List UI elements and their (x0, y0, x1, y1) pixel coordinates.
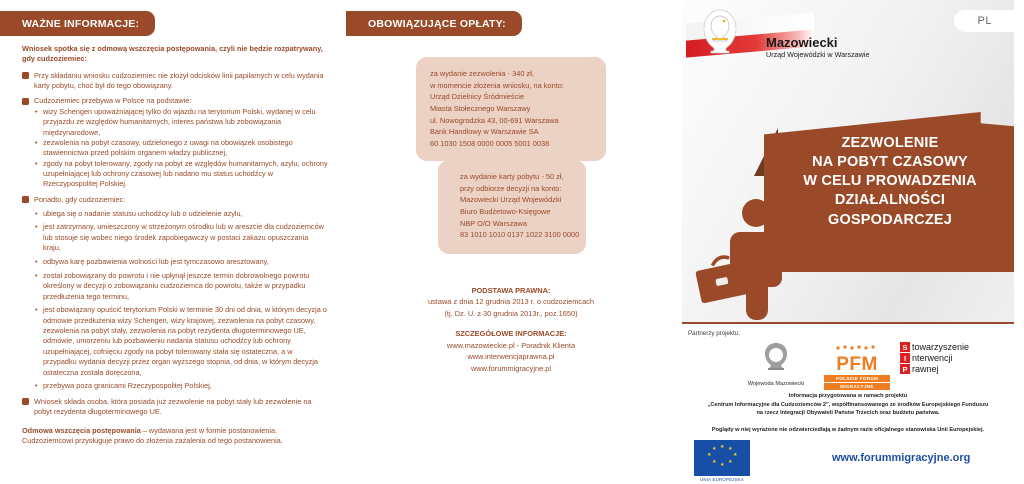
fee-line: za wydanie karty pobytu - 50 zł, (460, 171, 586, 183)
left-sub-item: przebywa poza granicami Rzeczypospolitej… (34, 381, 328, 391)
fee-box-residence-card: za wydanie karty pobytu - 50 zł, przy od… (438, 160, 586, 254)
brochure-page: WAŻNE INFORMACJE: Wniosek spotka się z o… (0, 0, 1024, 484)
sip-word: rawnej (912, 364, 939, 374)
fee-line: NBP O/O Warszawa (460, 218, 586, 230)
pfm-subtitle-line: POLSKIE FORUM (824, 375, 890, 382)
middle-column: OBOWIĄZUJĄCE OPŁATY: za wydanie zezwolen… (340, 0, 682, 484)
eu-flag-logo: ★ ★ ★ ★ ★ ★ ★ ★ UNIA EUROPEJSKA (694, 440, 750, 482)
sip-line: P rawnej (900, 364, 969, 374)
fees-section-header-label: OBOWIĄZUJĄCE OPŁATY: (346, 18, 522, 30)
square-bullet-icon (22, 98, 29, 105)
pfm-subtitle-line: MIGRACYJNE (824, 383, 890, 390)
partner-logo-sip: S towarzyszenie I nterwencji P rawnej (900, 342, 969, 375)
square-bullet-icon (22, 72, 29, 79)
left-sub-list: ubiega się o nadanie statusu uchodźcy lu… (34, 209, 328, 392)
fee-line: ul. Nowogrodzka 43, 00-691 Warszawa (430, 115, 606, 127)
left-sub-item: zezwolenia na pobyt czasowy, udzielonego… (34, 138, 328, 159)
left-sub-item: odbywa karę pozbawienia wolności lub jes… (34, 257, 328, 267)
left-sub-item: jest zatrzymany, umieszczony w strzeżony… (34, 222, 328, 253)
sip-word: nterwencji (912, 353, 953, 363)
hero-cover: Mazowiecki Urząd Wojewódzki w Warszawie … (682, 0, 1014, 324)
fee-line: za wydanie zezwolenia - 340 zł, (430, 68, 606, 80)
left-section-header: WAŻNE INFORMACJE: (0, 11, 155, 36)
hero-title-line: ZEZWOLENIE (764, 134, 1014, 153)
left-sub-item: został zobowiązany do powrotu i nie upły… (34, 271, 328, 302)
legal-basis-line: (tj. Dz. U. z 30 grudnia 2013r., poz.165… (340, 308, 682, 319)
org-subtitle: Urząd Wojewódzki w Warszawie (766, 51, 869, 58)
fee-box-permit: za wydanie zezwolenia - 340 zł, w momenc… (416, 57, 606, 161)
fee-line: Biuro Budżetowo-Księgowe (460, 206, 586, 218)
language-badge[interactable]: PL (954, 10, 1014, 32)
legal-basis-line: ustawa z dnia 12 grudnia 2013 r. o cudzo… (340, 296, 682, 307)
sip-word: towarzyszenie (912, 342, 969, 352)
details-info-link[interactable]: www.mazowieckie.pl - Poradnik Klienta (340, 340, 682, 351)
fee-line: w momencie złożenia wniosku, na konto: (430, 80, 606, 92)
org-name-block: Mazowiecki Urząd Wojewódzki w Warszawie (766, 36, 869, 58)
voivodeship-logo: Mazowiecki Urząd Wojewódzki w Warszawie (686, 8, 916, 64)
eu-flag-icon: ★ ★ ★ ★ ★ ★ ★ ★ (694, 440, 750, 476)
sip-initial-box: I (900, 353, 910, 363)
pfm-subtitle-bars: POLSKIE FORUM MIGRACYJNE (824, 375, 890, 390)
org-name: Mazowiecki (766, 36, 869, 49)
left-bullet-item: Ponadto, gdy cudzoziemiec: ubiega się o … (22, 195, 328, 392)
sip-initial-box: S (900, 342, 910, 352)
hero-title-line: W CELU PROWADZENIA (764, 172, 1014, 191)
left-bullet-label: Wniosek składa osoba, która posiada już … (34, 397, 328, 418)
polish-eagle-crest-icon (700, 8, 740, 55)
details-info-link[interactable]: www.interwencjaprawna.pl (340, 351, 682, 362)
left-section-header-label: WAŻNE INFORMACJE: (0, 18, 155, 30)
left-bullet-item: Wniosek składa osoba, która posiada już … (22, 397, 328, 418)
left-lead-paragraph: Wniosek spotka się z odmową wszczęcia po… (22, 44, 328, 65)
details-info-link[interactable]: www.forummigracyjne.pl (340, 363, 682, 374)
project-disclaimer: Informacja przygotowana w ramach projekt… (682, 392, 1014, 435)
left-bullet-label: Cudzoziemiec przebywa w Polsce na podsta… (34, 96, 328, 106)
pfm-wordmark: PFM (824, 356, 890, 374)
square-bullet-icon (22, 398, 29, 405)
left-sub-item: zgody na pobyt tolerowany, zgody na poby… (34, 159, 328, 190)
language-badge-label: PL (978, 15, 992, 27)
partners-label: Partnerzy projektu: (688, 330, 740, 337)
project-website-url[interactable]: www.forummigracyjne.org (832, 452, 970, 464)
left-bullet-label: Przy składaniu wniosku cudzoziemiec nie … (34, 71, 328, 92)
sip-initial-box: P (900, 364, 910, 374)
right-panel: Mazowiecki Urząd Wojewódzki w Warszawie … (682, 0, 1024, 484)
left-sub-list: wizy Schengen upoważniającej tylko do wj… (34, 107, 328, 190)
details-info-title: SZCZEGÓŁOWE INFORMACJE: (340, 328, 682, 339)
eu-flag-caption: UNIA EUROPEJSKA (694, 477, 750, 482)
eagle-emblem-icon (759, 340, 793, 374)
left-sub-item: wizy Schengen upoważniającej tylko do wj… (34, 107, 328, 138)
legal-basis-block: PODSTAWA PRAWNA: ustawa z dnia 12 grudni… (340, 285, 682, 374)
legal-basis-title: PODSTAWA PRAWNA: (340, 285, 682, 296)
disclaimer-line: na rzecz Integracji Obywateli Państw Trz… (682, 409, 1014, 418)
partner-logo-wojewoda: Wojewoda Mazowiecki (734, 340, 818, 387)
left-sub-item: jest obowiązany opuścić terytorium Polsk… (34, 305, 328, 378)
businessman-with-briefcase-icon (694, 196, 802, 322)
left-bullet-item: Cudzoziemiec przebywa w Polsce na podsta… (22, 96, 328, 189)
square-bullet-icon (22, 196, 29, 203)
fees-section-header: OBOWIĄZUJĄCE OPŁATY: (346, 11, 522, 36)
fee-account-number: 83 1010 1010 0137 1022 3100 0000 (460, 229, 586, 241)
partner-logo-caption: Wojewoda Mazowiecki (734, 381, 818, 387)
sip-line: S towarzyszenie (900, 342, 969, 352)
fee-line: przy odbiorze decyzji na konto: (460, 183, 586, 195)
sip-line: I nterwencji (900, 353, 969, 363)
left-column: WAŻNE INFORMACJE: Wniosek spotka się z o… (0, 0, 340, 484)
partner-logo-pfm: PFM POLSKIE FORUM MIGRACYJNE (824, 338, 890, 391)
disclaimer-line: Poglądy w niej wyrażone nie odzwierciedl… (682, 426, 1014, 435)
fee-line: Urząd Dzielnicy Śródmieście (430, 91, 606, 103)
pfm-dots-icon (832, 345, 882, 351)
left-bullet-label: Ponadto, gdy cudzoziemiec: (34, 195, 328, 205)
fee-line: Miasta Stołecznego Warszawy (430, 103, 606, 115)
left-body-text: Wniosek spotka się z odmową wszczęcia po… (22, 44, 328, 446)
left-closing-note-title: Odmowa wszczęcia postępowania (22, 426, 141, 435)
left-sub-item: ubiega się o nadanie statusu uchodźcy lu… (34, 209, 328, 219)
left-closing-note: Odmowa wszczęcia postępowania – wydawana… (22, 426, 328, 447)
fee-line: Bank Handlowy w Warszawie SA (430, 126, 606, 138)
fee-line: Mazowiecki Urząd Wojewódzki (460, 194, 586, 206)
disclaimer-line: Informacja przygotowana w ramach projekt… (682, 392, 1014, 401)
fee-account-number: 60 1030 1508 0000 0005 5001 0038 (430, 138, 606, 150)
left-bullet-item: Przy składaniu wniosku cudzoziemiec nie … (22, 71, 328, 92)
disclaimer-line: „Centrum Informacyjne dla Cudzoziemców 2… (682, 401, 1014, 410)
hero-title-line: NA POBYT CZASOWY (764, 153, 1014, 172)
